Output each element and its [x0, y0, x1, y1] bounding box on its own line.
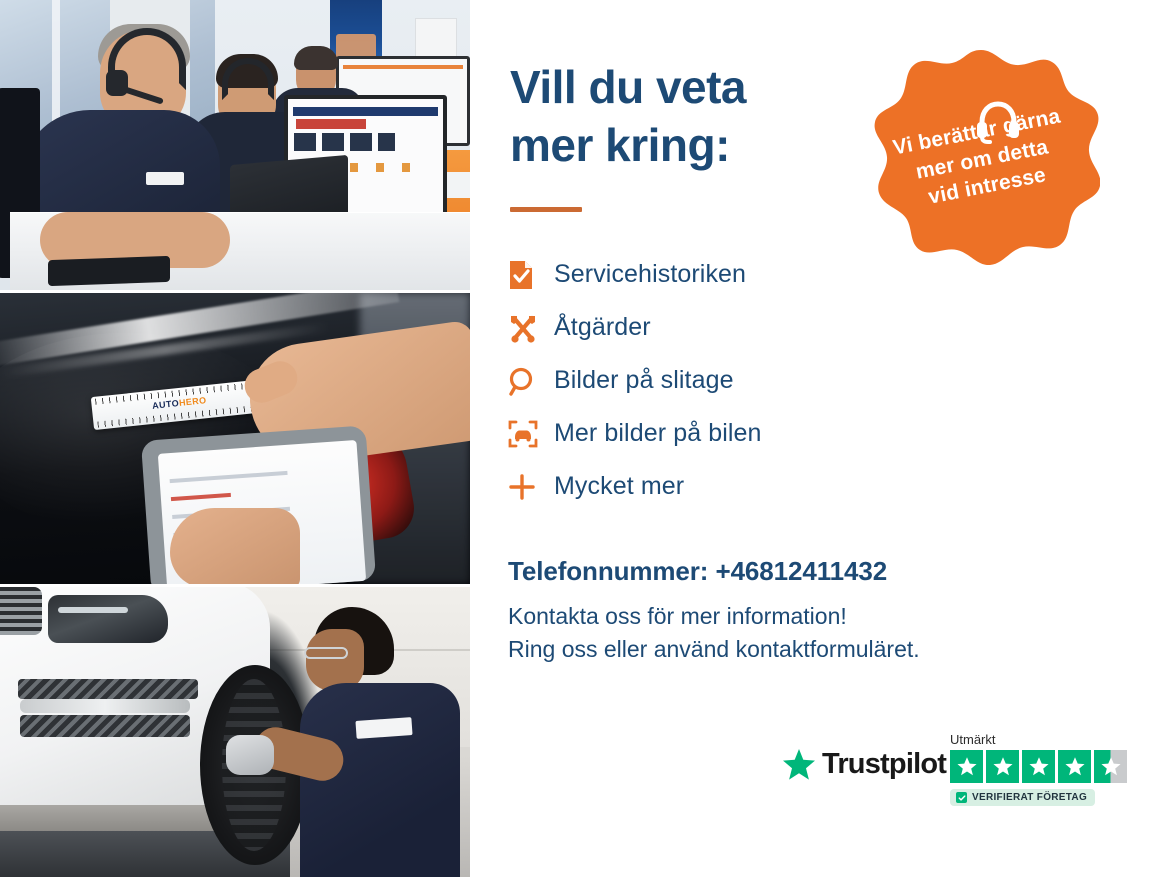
- phone-line: Telefonnummer: +46812411432: [508, 556, 1068, 587]
- trustpilot-star-icon: [782, 748, 816, 781]
- contact-line-2: Ring oss eller använd kontaktformuläret.: [508, 633, 1068, 666]
- promo-banner: AUTOHERO: [0, 0, 1170, 877]
- document-check-icon: [508, 260, 554, 290]
- feature-label: Mer bilder på bilen: [554, 419, 762, 448]
- phone-label: Telefonnummer:: [508, 556, 708, 586]
- contact-line-1: Kontakta oss för mer information!: [508, 600, 1068, 633]
- car-headlight: [48, 595, 168, 643]
- feature-label: Åtgärder: [554, 313, 651, 342]
- call-center-agents-photo: [0, 0, 470, 290]
- plus-icon: [508, 473, 554, 501]
- technician: [300, 607, 470, 877]
- wrench-screwdriver-icon: [508, 313, 554, 343]
- trustpilot-logo: Trustpilot: [782, 748, 946, 781]
- tablet-line: [171, 493, 231, 501]
- monitor-topbar: [293, 107, 438, 116]
- star-3: [1022, 750, 1055, 783]
- verified-label: VERIFIERAT FÖRETAG: [972, 792, 1087, 803]
- monitor-banner: [296, 119, 366, 129]
- trustpilot-rating: Utmärkt: [950, 732, 1140, 807]
- feature-item-bilder-pa-slitage: Bilder på slitage: [508, 354, 928, 407]
- agent-1-badge: [146, 172, 184, 185]
- car-scan-icon: [508, 420, 554, 448]
- heading-line-2: mer kring:: [510, 116, 910, 174]
- bumper-vent-upper: [18, 679, 198, 699]
- feature-item-atgarder: Åtgärder: [508, 301, 928, 354]
- feature-label: Mycket mer: [554, 472, 684, 501]
- desk-tablet: [48, 256, 170, 286]
- bumper-vent-lower: [20, 715, 190, 737]
- heading-line-1: Vill du veta: [510, 58, 910, 116]
- tyre-service-photo: [0, 587, 470, 877]
- star-2: [986, 750, 1019, 783]
- technician-face: [306, 629, 364, 691]
- monitor-car-thumbs: [294, 133, 395, 151]
- content-panel: Vill du veta mer kring: Vi berättar gärn…: [470, 0, 1170, 877]
- tablet-line: [170, 471, 288, 483]
- verified-check-icon: [956, 792, 967, 803]
- star-5-half: [1094, 750, 1127, 783]
- rating-label: Utmärkt: [950, 732, 1140, 747]
- trustpilot-widget[interactable]: Trustpilot Utmärkt: [782, 732, 1142, 818]
- verified-company-badge: VERIFIERAT FÖRETAG: [950, 789, 1095, 806]
- car-grille: [0, 587, 42, 635]
- feature-item-mer-bilder-pa-bilen: Mer bilder på bilen: [508, 407, 928, 460]
- title-divider: [510, 207, 582, 212]
- contact-text: Kontakta oss för mer information! Ring o…: [508, 600, 1068, 667]
- technician-glove: [226, 735, 274, 775]
- agent-3-hair: [294, 46, 338, 70]
- star-4: [1058, 750, 1091, 783]
- technician-autohero-badge: [355, 717, 412, 739]
- inspector-hand-holding-tablet: [170, 508, 300, 583]
- feature-label: Bilder på slitage: [554, 366, 734, 395]
- trustpilot-name: Trustpilot: [822, 748, 946, 781]
- feature-item-servicehistoriken: Servicehistoriken: [508, 248, 928, 301]
- car-inspection-ruler-photo: AUTOHERO: [0, 293, 470, 583]
- star-1: [950, 750, 983, 783]
- technician-glasses: [304, 647, 348, 659]
- contact-block: Telefonnummer: +46812411432 Kontakta oss…: [508, 556, 1068, 667]
- page-title: Vill du veta mer kring:: [510, 58, 910, 175]
- feature-list: Servicehistoriken Åtgärder: [508, 248, 928, 513]
- magnifier-icon: [508, 366, 554, 396]
- phone-number[interactable]: +46812411432: [715, 556, 887, 586]
- feature-label: Servicehistoriken: [554, 260, 746, 289]
- feature-item-mycket-mer: Mycket mer: [508, 460, 928, 513]
- photo-column: AUTOHERO: [0, 0, 470, 877]
- star-rating: [950, 750, 1140, 783]
- bumper-chrome-bar: [20, 699, 190, 713]
